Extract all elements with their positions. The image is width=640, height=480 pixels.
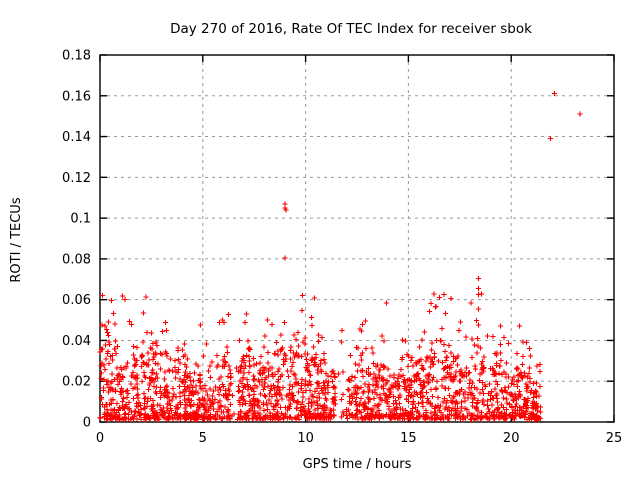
- y-axis-tick-label: 0.16: [62, 89, 91, 104]
- y-axis-tick-label: 0.12: [62, 171, 91, 186]
- roti-scatter-plot: Day 270 of 2016, Rate Of TEC Index for r…: [0, 0, 640, 480]
- y-axis-label: ROTI / TECUs: [9, 197, 24, 282]
- x-axis-tick-label: 5: [199, 431, 207, 446]
- x-axis-label: GPS time / hours: [303, 457, 412, 472]
- x-axis-tick-label: 10: [297, 431, 314, 446]
- x-axis-tick-label: 15: [400, 431, 417, 446]
- y-axis-tick-label: 0.14: [62, 130, 91, 145]
- x-axis-tick-label: 0: [96, 431, 104, 446]
- x-axis-tick-label: 20: [503, 431, 520, 446]
- y-axis-tick-label: 0.04: [62, 334, 91, 349]
- y-axis-tick-label: 0: [83, 416, 91, 431]
- chart-container: Day 270 of 2016, Rate Of TEC Index for r…: [0, 0, 640, 480]
- chart-title: Day 270 of 2016, Rate Of TEC Index for r…: [170, 21, 532, 37]
- y-axis-tick-label: 0.06: [62, 293, 91, 308]
- y-axis-tick-label: 0.08: [62, 252, 91, 267]
- y-axis-tick-label: 0.02: [62, 375, 91, 390]
- y-axis-tick-label: 0.18: [62, 49, 91, 64]
- x-axis-tick-label: 25: [606, 431, 623, 446]
- y-axis-tick-label: 0.1: [70, 212, 91, 227]
